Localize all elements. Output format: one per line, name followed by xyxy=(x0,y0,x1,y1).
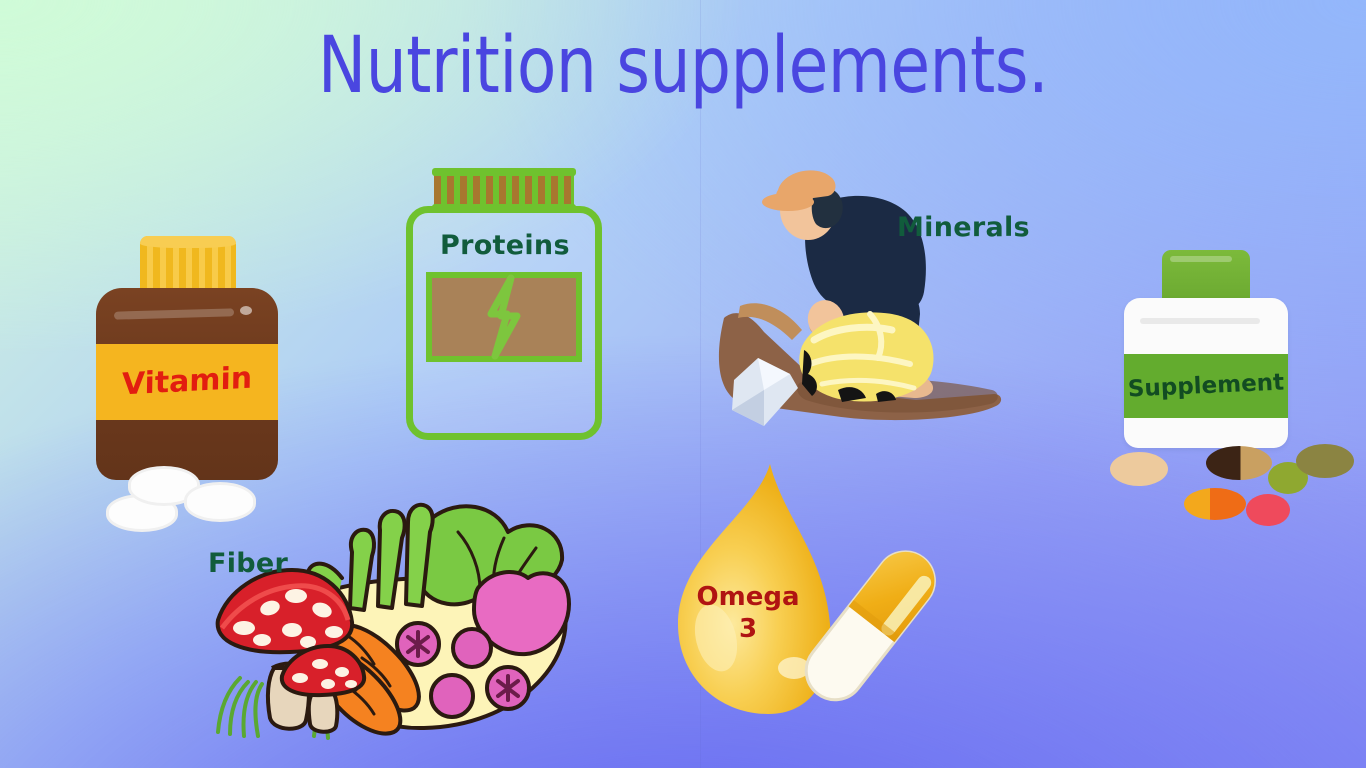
supplement-label-text: Supplement xyxy=(1123,350,1290,421)
omega3-label: Omega 3 xyxy=(668,582,828,645)
page-title: Nutrition supplements. xyxy=(55,26,1312,108)
fiber-label: Fiber xyxy=(208,548,588,768)
proteins-jar-label-panel xyxy=(426,272,582,362)
pill xyxy=(1110,452,1168,486)
omega3-label-line2: 3 xyxy=(668,614,828,646)
pill xyxy=(1246,494,1290,526)
pill xyxy=(1184,488,1246,520)
vitamin-jar-label: Vitamin xyxy=(96,344,278,420)
supplement-bottle-illustration: Supplement xyxy=(1110,250,1320,530)
proteins-jar-illustration xyxy=(406,172,602,440)
vitamin-label-text: Vitamin xyxy=(95,339,278,425)
slide-canvas: Nutrition supplements. Vitamin Proteins xyxy=(0,0,1366,768)
pill xyxy=(1296,444,1354,478)
omega3-label-line1: Omega xyxy=(668,582,828,614)
supplement-bottle-neck-line xyxy=(1140,318,1260,324)
vitamin-jar-glint xyxy=(240,306,252,315)
lightning-bolt-icon xyxy=(481,274,527,360)
supplement-bottle-label: Supplement xyxy=(1124,354,1288,418)
proteins-label: Proteins xyxy=(440,230,570,261)
pill xyxy=(1206,446,1272,480)
omega3-illustration: Omega 3 xyxy=(658,456,948,740)
proteins-jar-cap xyxy=(434,172,574,208)
